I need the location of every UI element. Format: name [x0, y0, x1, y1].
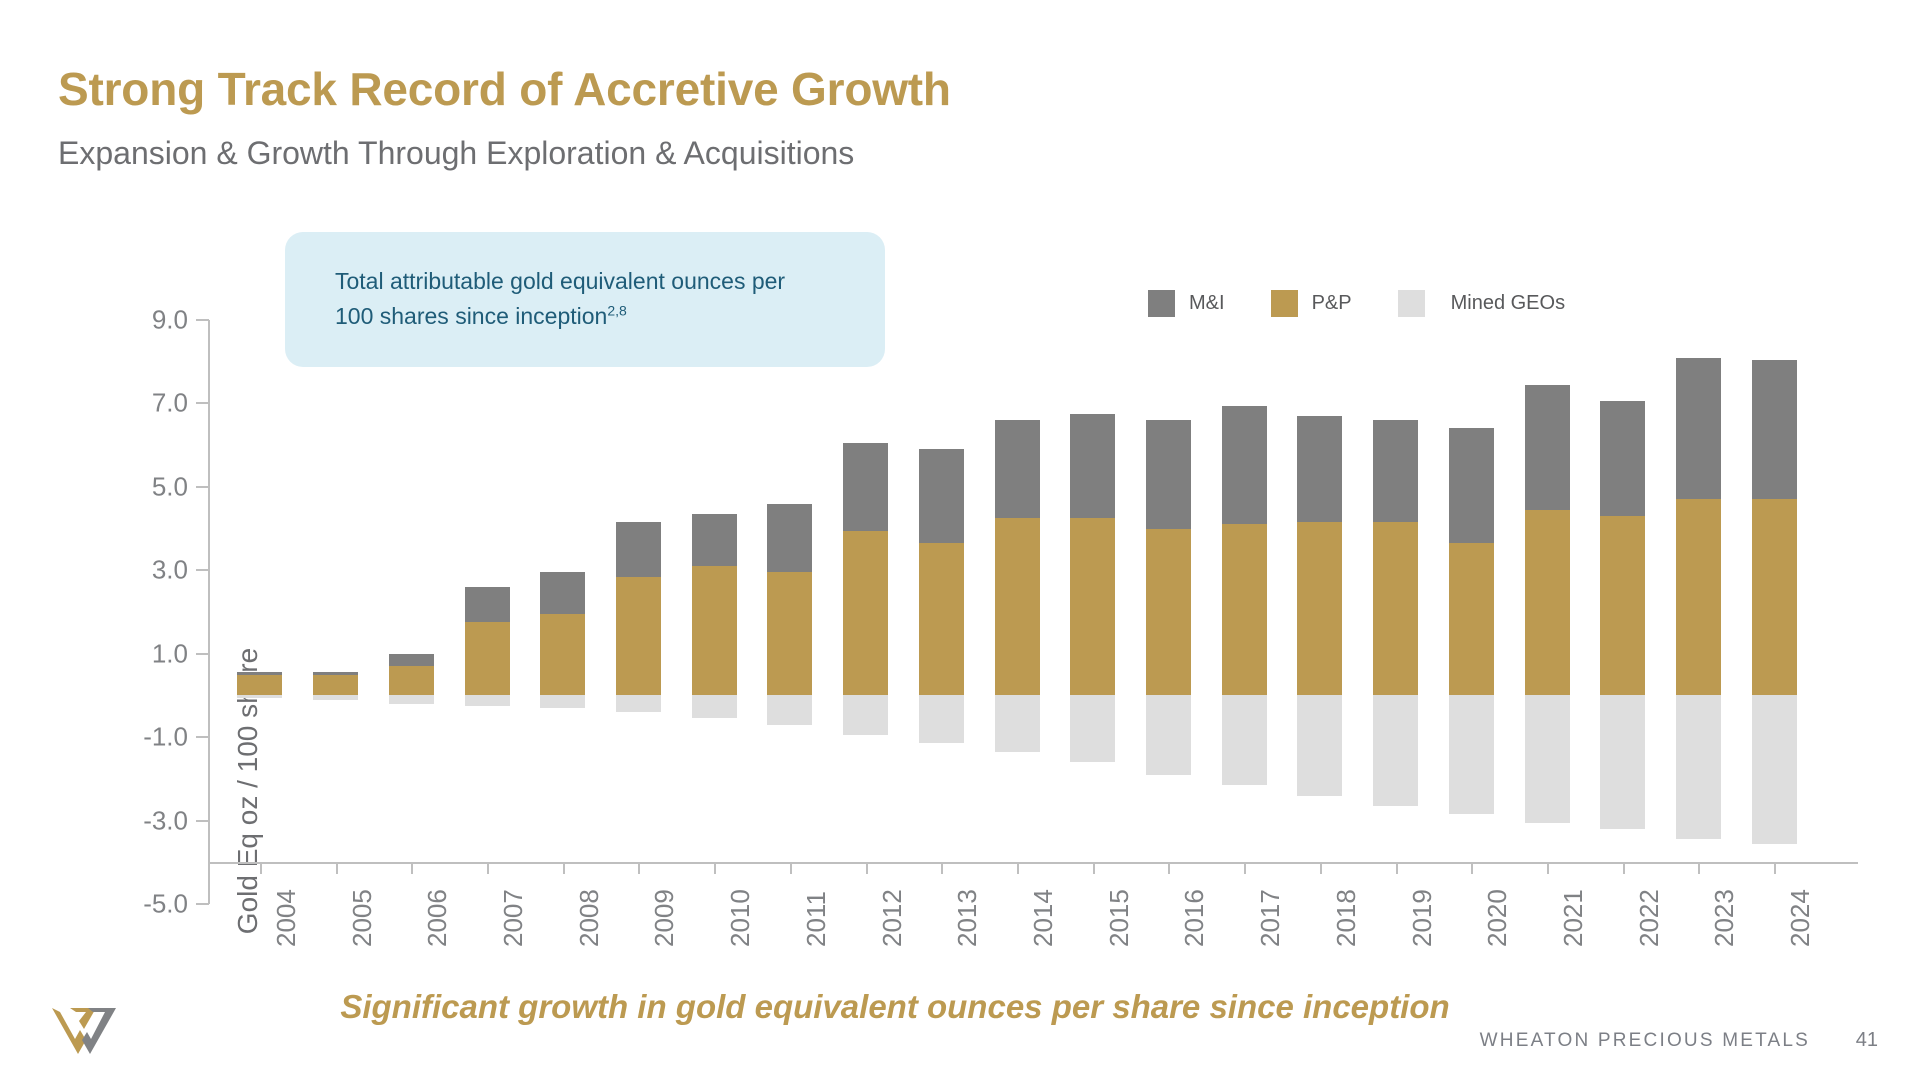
bar-segment-mined-geos — [1676, 695, 1721, 839]
bar-segment-mined-geos — [389, 695, 434, 703]
x-axis-tick-mark — [1471, 862, 1473, 874]
y-axis-tick-label: -5.0 — [78, 889, 188, 920]
bar-segment-pp — [389, 666, 434, 695]
x-axis-tick-label-2014: 2014 — [1028, 889, 1059, 947]
bar-group-2012[interactable] — [843, 320, 888, 904]
x-axis-tick-mark — [1623, 862, 1625, 874]
callout-line-1: Total attributable gold equivalent ounce… — [335, 268, 785, 294]
bar-segment-pp — [1297, 522, 1342, 695]
bar-segment-mi — [616, 522, 661, 576]
y-axis-tick-mark — [196, 486, 209, 488]
bar-segment-pp — [919, 543, 964, 695]
bar-group-2015[interactable] — [1070, 320, 1115, 904]
bar-segment-mi — [1600, 401, 1645, 516]
bar-segment-pp — [767, 572, 812, 695]
bar-segment-mi — [1070, 414, 1115, 518]
bar-group-2023[interactable] — [1676, 320, 1721, 904]
bar-group-2009[interactable] — [616, 320, 661, 904]
y-axis-tick-label: -3.0 — [78, 805, 188, 836]
x-axis-tick-label-2004: 2004 — [271, 889, 302, 947]
x-axis-tick-mark — [260, 862, 262, 874]
x-axis-tick-label-2011: 2011 — [801, 891, 832, 947]
bar-segment-pp — [692, 566, 737, 695]
bar-group-2024[interactable] — [1752, 320, 1797, 904]
bar-segment-mi — [1752, 360, 1797, 500]
chart-caption: Significant growth in gold equivalent ou… — [0, 988, 1920, 1026]
x-axis-tick-label-2018: 2018 — [1331, 889, 1362, 947]
bar-segment-pp — [1752, 499, 1797, 695]
bar-segment-mined-geos — [465, 695, 510, 705]
x-axis-tick-label-2024: 2024 — [1785, 889, 1816, 947]
bar-segment-mi — [465, 587, 510, 622]
callout-footnote-marker: 2,8 — [607, 302, 626, 318]
y-axis-tick-mark — [196, 319, 209, 321]
x-axis-tick-mark — [336, 862, 338, 874]
bar-segment-mined-geos — [616, 695, 661, 712]
bar-group-2007[interactable] — [465, 320, 510, 904]
chart-caption-text: Significant growth in gold equivalent ou… — [340, 988, 1449, 1026]
x-axis-tick-mark — [1168, 862, 1170, 874]
bar-group-2013[interactable] — [919, 320, 964, 904]
bar-segment-mi — [1525, 385, 1570, 510]
x-axis-tick-label-2023: 2023 — [1709, 889, 1740, 947]
bar-segment-mined-geos — [540, 695, 585, 708]
y-axis-tick-mark — [196, 903, 209, 905]
bar-segment-pp — [540, 614, 585, 695]
bar-group-2008[interactable] — [540, 320, 585, 904]
bar-segment-pp — [843, 531, 888, 696]
bar-segment-mined-geos — [1222, 695, 1267, 785]
bar-group-2020[interactable] — [1449, 320, 1494, 904]
bar-segment-pp — [465, 622, 510, 695]
x-axis-tick-mark — [411, 862, 413, 874]
legend-label: Mined GEOs — [1451, 292, 1565, 315]
x-axis-tick-label-2021: 2021 — [1558, 889, 1589, 947]
x-axis-tick-label-2013: 2013 — [952, 889, 983, 947]
bar-group-2014[interactable] — [995, 320, 1040, 904]
bar-segment-mi — [995, 420, 1040, 518]
x-axis-tick-label-2005: 2005 — [347, 889, 378, 947]
bar-segment-pp — [1222, 524, 1267, 695]
x-axis-tick-mark — [1093, 862, 1095, 874]
y-axis-tick-mark — [196, 653, 209, 655]
x-axis-tick-mark — [1396, 862, 1398, 874]
y-axis-tick-label: 7.0 — [78, 388, 188, 419]
x-axis-tick-mark — [866, 862, 868, 874]
footer-brand: WHEATON PRECIOUS METALS — [1480, 1030, 1810, 1052]
bar-segment-mined-geos — [919, 695, 964, 743]
x-axis-tick-label-2012: 2012 — [877, 889, 908, 947]
chart-plot-area: Gold Eq oz / 100 share — [208, 320, 1858, 904]
bar-segment-pp — [1449, 543, 1494, 695]
page-number: 41 — [1856, 1029, 1878, 1052]
x-axis-tick-mark — [790, 862, 792, 874]
bar-segment-pp — [1146, 529, 1191, 696]
bar-segment-mined-geos — [1449, 695, 1494, 814]
bar-segment-mi — [540, 572, 585, 614]
bar-segment-mined-geos — [1525, 695, 1570, 822]
bar-group-2005[interactable] — [313, 320, 358, 904]
bar-segment-mined-geos — [1752, 695, 1797, 843]
bar-segment-mi — [1222, 406, 1267, 525]
bar-group-2022[interactable] — [1600, 320, 1645, 904]
wheaton-precious-metals-logo-icon — [48, 1002, 120, 1060]
legend-label: P&P — [1312, 292, 1352, 315]
bar-segment-mi — [1146, 420, 1191, 528]
bar-segment-mined-geos — [843, 695, 888, 735]
x-axis-tick-mark — [941, 862, 943, 874]
bar-segment-pp — [1600, 516, 1645, 695]
legend-item-p-p: P&P — [1271, 290, 1352, 317]
y-axis-tick-label: 3.0 — [78, 555, 188, 586]
bar-segment-pp — [995, 518, 1040, 695]
bar-segment-mi — [919, 449, 964, 543]
x-axis-tick-mark — [487, 862, 489, 874]
bar-segment-mined-geos — [1297, 695, 1342, 795]
bar-group-2010[interactable] — [692, 320, 737, 904]
x-axis-tick-label-2020: 2020 — [1482, 889, 1513, 947]
bar-segment-pp — [1070, 518, 1115, 695]
x-axis-tick-mark — [1017, 862, 1019, 874]
x-axis-tick-mark — [1774, 862, 1776, 874]
x-axis-tick-label-2009: 2009 — [649, 889, 680, 947]
bar-segment-pp — [1525, 510, 1570, 696]
bar-segment-pp — [313, 675, 358, 696]
page-subtitle: Expansion & Growth Through Exploration &… — [58, 135, 854, 172]
bar-segment-mi — [313, 672, 358, 675]
legend-swatch-icon — [1148, 290, 1175, 317]
y-axis-tick-label: 9.0 — [78, 305, 188, 336]
x-axis-tick-mark — [1320, 862, 1322, 874]
page-title: Strong Track Record of Accretive Growth — [58, 62, 951, 116]
legend-item-m-i: M&I — [1148, 290, 1225, 317]
x-axis-tick-label-2008: 2008 — [574, 889, 605, 947]
bar-segment-mined-geos — [692, 695, 737, 718]
y-axis-tick-label: -1.0 — [78, 722, 188, 753]
bar-group-2018[interactable] — [1297, 320, 1342, 904]
bar-segment-mi — [1373, 420, 1418, 522]
y-axis-tick-mark — [196, 569, 209, 571]
x-axis-tick-mark — [638, 862, 640, 874]
x-axis-tick-mark — [1244, 862, 1246, 874]
chart-legend: M&IP&PMined GEOs — [1148, 290, 1611, 317]
bar-segment-pp — [1676, 499, 1721, 695]
bar-segment-mined-geos — [237, 695, 282, 697]
bar-group-2021[interactable] — [1525, 320, 1570, 904]
x-axis-tick-label-2017: 2017 — [1255, 889, 1286, 947]
bar-segment-mined-geos — [313, 695, 358, 699]
y-axis-tick-mark — [196, 402, 209, 404]
bar-group-2006[interactable] — [389, 320, 434, 904]
legend-item-mined-geos: Mined GEOs — [1398, 290, 1565, 317]
bar-group-2016[interactable] — [1146, 320, 1191, 904]
bar-segment-pp — [1373, 522, 1418, 695]
bar-group-2004[interactable] — [237, 320, 282, 904]
bar-segment-mi — [1297, 416, 1342, 522]
bar-segment-mined-geos — [1600, 695, 1645, 828]
bar-segment-mi — [692, 514, 737, 566]
legend-swatch-icon — [1271, 290, 1298, 317]
bar-segment-mi — [1449, 428, 1494, 543]
bar-group-2011[interactable] — [767, 320, 812, 904]
bar-segment-mined-geos — [995, 695, 1040, 751]
bar-segment-mined-geos — [1373, 695, 1418, 806]
chart-x-axis-line — [208, 862, 1858, 864]
x-axis-tick-label-2007: 2007 — [498, 889, 529, 947]
bar-segment-pp — [616, 577, 661, 696]
x-axis-tick-mark — [1547, 862, 1549, 874]
bar-segment-mined-geos — [1146, 695, 1191, 774]
bar-group-2019[interactable] — [1373, 320, 1418, 904]
bar-segment-mined-geos — [1070, 695, 1115, 762]
bar-segment-mined-geos — [767, 695, 812, 724]
x-axis-tick-mark — [1698, 862, 1700, 874]
x-axis-tick-label-2010: 2010 — [725, 889, 756, 947]
x-axis-tick-mark — [714, 862, 716, 874]
y-axis-tick-mark — [196, 736, 209, 738]
x-axis-tick-label-2022: 2022 — [1634, 889, 1665, 947]
bar-segment-mi — [1676, 358, 1721, 500]
bar-segment-mi — [389, 654, 434, 667]
y-axis-tick-mark — [196, 820, 209, 822]
bar-segment-mi — [237, 672, 282, 674]
x-axis-tick-label-2015: 2015 — [1104, 889, 1135, 947]
y-axis-tick-label: 1.0 — [78, 638, 188, 669]
bar-segment-mi — [843, 443, 888, 531]
legend-swatch-icon — [1398, 290, 1425, 317]
bar-segment-pp — [237, 675, 282, 696]
x-axis-tick-label-2006: 2006 — [422, 889, 453, 947]
x-axis-tick-label-2019: 2019 — [1407, 889, 1438, 947]
bar-segment-mi — [767, 504, 812, 573]
bar-group-2017[interactable] — [1222, 320, 1267, 904]
y-axis-tick-label: 5.0 — [78, 471, 188, 502]
x-axis-tick-mark — [563, 862, 565, 874]
x-axis-tick-label-2016: 2016 — [1179, 889, 1210, 947]
legend-label: M&I — [1189, 292, 1225, 315]
